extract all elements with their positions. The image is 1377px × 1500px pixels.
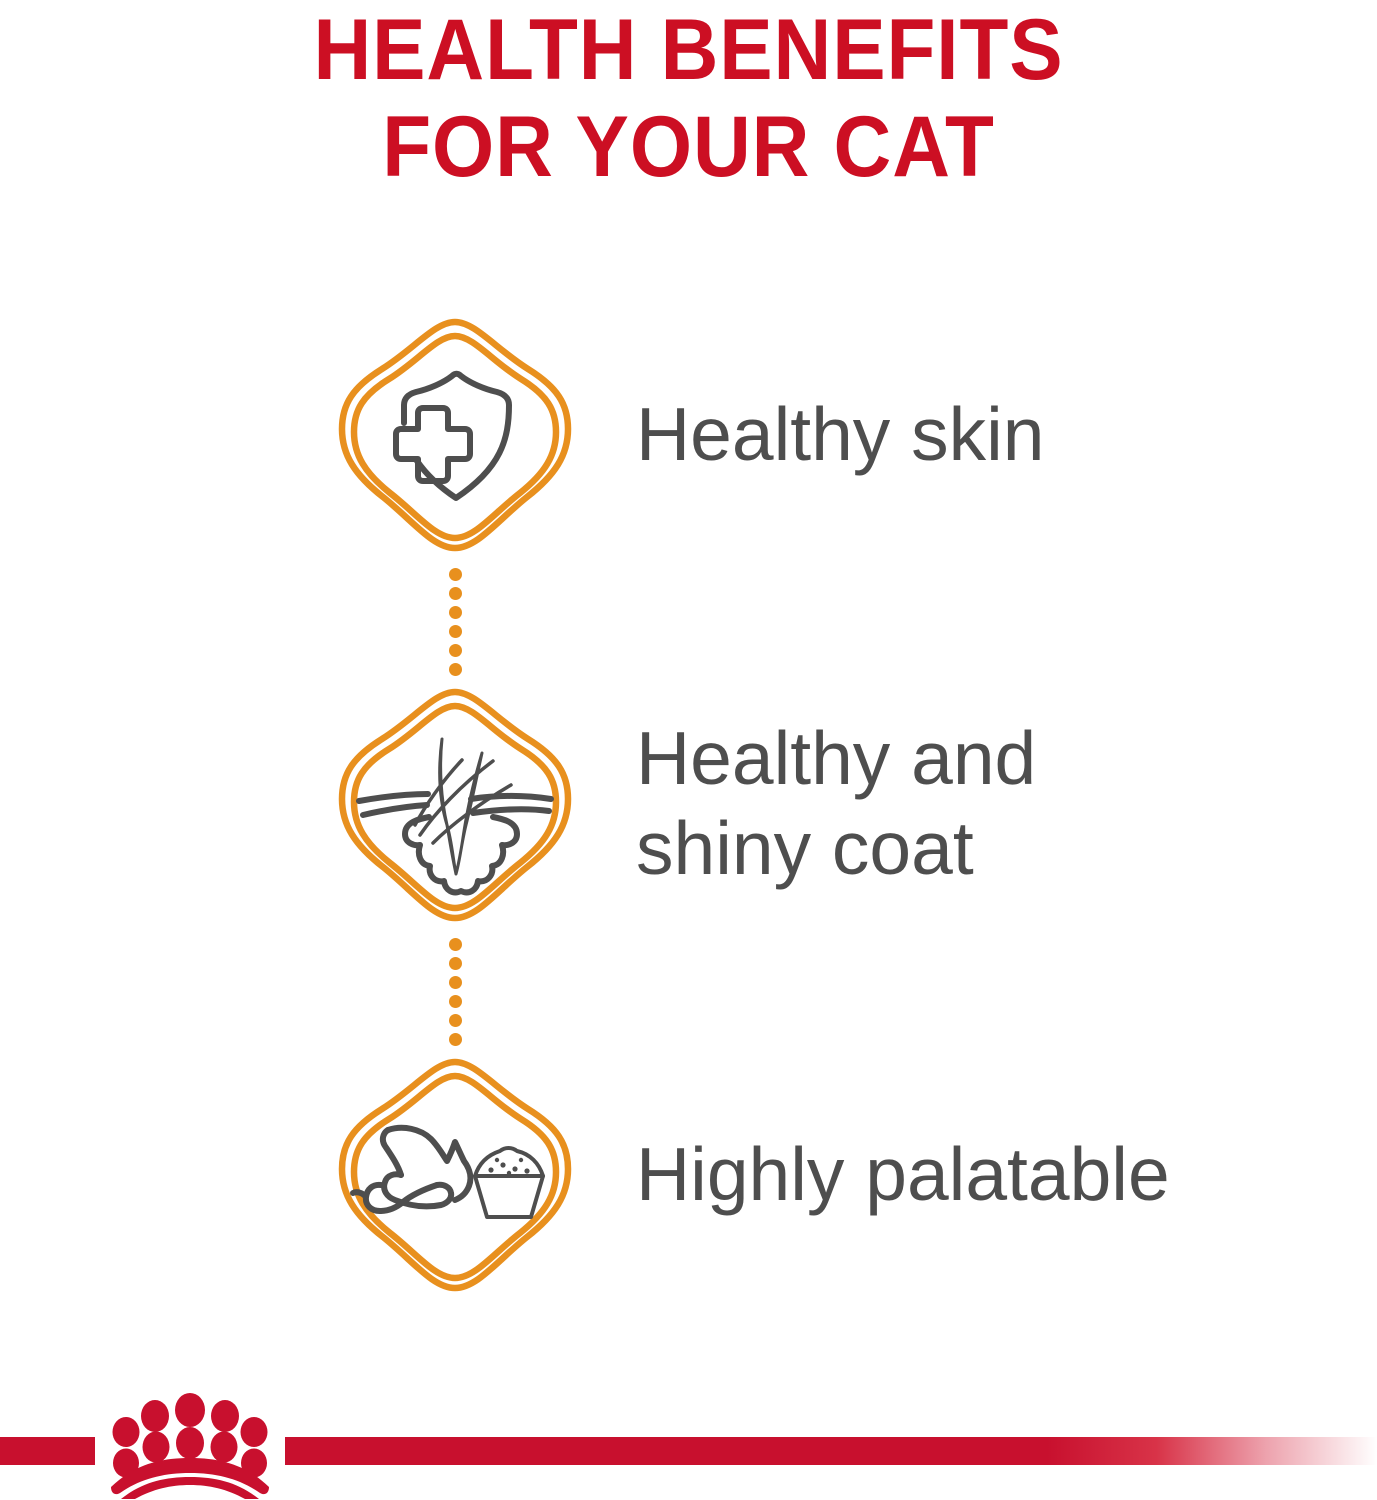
benefit-item-highly-palatable: Highly palatable xyxy=(0,1045,1377,1305)
page-title-line-2: FOR YOUR CAT xyxy=(48,99,1329,196)
benefit-icon-badge-1 xyxy=(325,305,585,565)
food-bowl-icon xyxy=(475,1148,543,1217)
royal-canin-crown-logo xyxy=(95,1388,285,1500)
benefit-icon-badge-3 xyxy=(325,1045,585,1305)
page-title-line-1: HEALTH BENEFITS xyxy=(48,2,1329,99)
benefit-item-healthy-skin: Healthy skin xyxy=(0,305,1377,565)
connector-dot xyxy=(449,1014,462,1027)
benefit-label-1: Healthy skin xyxy=(636,389,1045,479)
benefit-icon-badge-2 xyxy=(325,675,585,935)
health-benefits-infographic: HEALTH BENEFITS FOR YOUR CAT H xyxy=(0,0,1377,1500)
page-title: HEALTH BENEFITS FOR YOUR CAT xyxy=(0,2,1377,196)
benefit-item-shiny-coat: Healthy and shiny coat xyxy=(0,675,1377,935)
connector-dot xyxy=(449,568,462,581)
benefit-label-2: Healthy and shiny coat xyxy=(636,713,1036,893)
connector-dot xyxy=(449,938,462,951)
cat-eating-bowl-icon xyxy=(353,1128,470,1211)
connector-dot xyxy=(449,995,462,1008)
connector-dots-1 xyxy=(440,568,470,683)
connector-dot xyxy=(449,625,462,638)
connector-dots-2 xyxy=(440,938,470,1053)
connector-dot xyxy=(449,644,462,657)
connector-dot xyxy=(449,976,462,989)
connector-dot xyxy=(449,606,462,619)
connector-dot xyxy=(449,957,462,970)
connector-dot xyxy=(449,587,462,600)
benefits-list: Healthy skin xyxy=(0,305,1377,1305)
benefit-label-3: Highly palatable xyxy=(636,1129,1170,1219)
footer xyxy=(0,1380,1377,1500)
shield-cross-icon xyxy=(396,374,509,498)
